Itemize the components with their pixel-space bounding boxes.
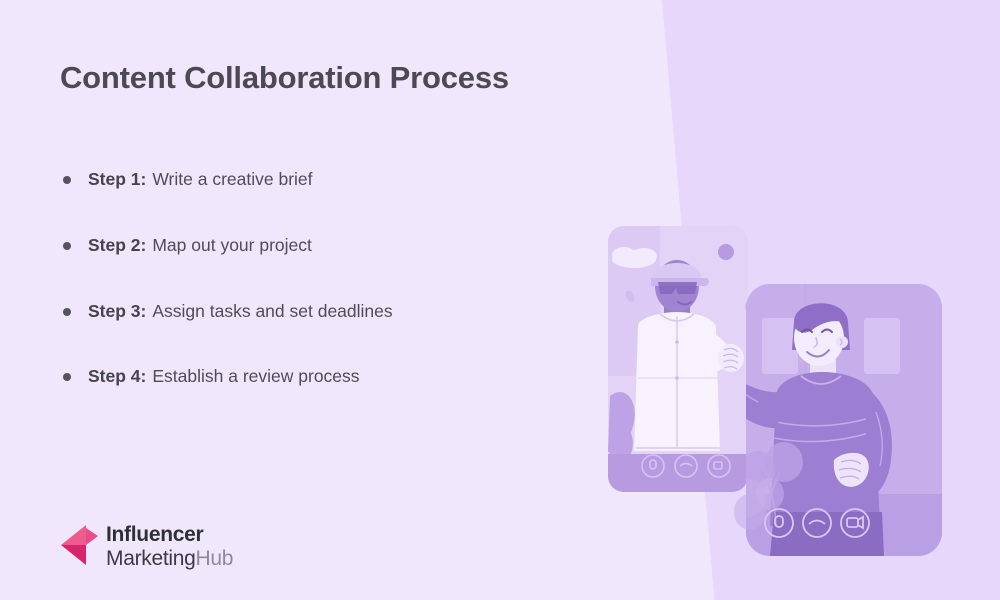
step-label: Step 2: [88, 234, 146, 257]
list-item: Step 3: Assign tasks and set deadlines [60, 300, 580, 323]
bullet-icon [63, 373, 71, 381]
steps-list: Step 1: Write a creative brief Step 2: M… [60, 168, 580, 388]
video-call-collaboration-illustration [598, 226, 1000, 600]
cloud-decor [612, 247, 657, 268]
list-item: Step 1: Write a creative brief [60, 168, 580, 191]
step-text: Establish a review process [152, 365, 359, 388]
illustration-svg [598, 226, 1000, 600]
logo-wordmark: Influencer MarketingHub [106, 524, 233, 569]
step-text: Write a creative brief [152, 168, 312, 191]
step-text: Map out your project [152, 234, 312, 257]
slide-canvas: Content Collaboration Process Step 1: Wr… [0, 0, 1000, 600]
bullet-icon [63, 308, 71, 316]
bullet-icon [63, 242, 71, 250]
content-column: Content Collaboration Process Step 1: Wr… [0, 0, 600, 600]
page-title: Content Collaboration Process [60, 60, 509, 96]
list-item: Step 2: Map out your project [60, 234, 580, 257]
fist-left-person [718, 344, 744, 372]
logo-line-marketinghub: MarketingHub [106, 548, 233, 569]
step-label: Step 3: [88, 300, 146, 323]
logo-word-hub: Hub [196, 547, 234, 570]
bullet-icon [63, 176, 71, 184]
window-decor [864, 318, 900, 374]
brand-logo[interactable]: Influencer MarketingHub [58, 520, 233, 572]
arrow-left-mark-icon [58, 522, 104, 570]
step-label: Step 4: [88, 365, 146, 388]
logo-line-influencer: Influencer [106, 524, 233, 545]
floating-dot-decor [718, 244, 734, 260]
step-label: Step 1: [88, 168, 146, 191]
logo-word-marketing: Marketing [106, 547, 196, 570]
step-text: Assign tasks and set deadlines [152, 300, 392, 323]
list-item: Step 4: Establish a review process [60, 365, 580, 388]
video-panel-left [608, 226, 757, 492]
